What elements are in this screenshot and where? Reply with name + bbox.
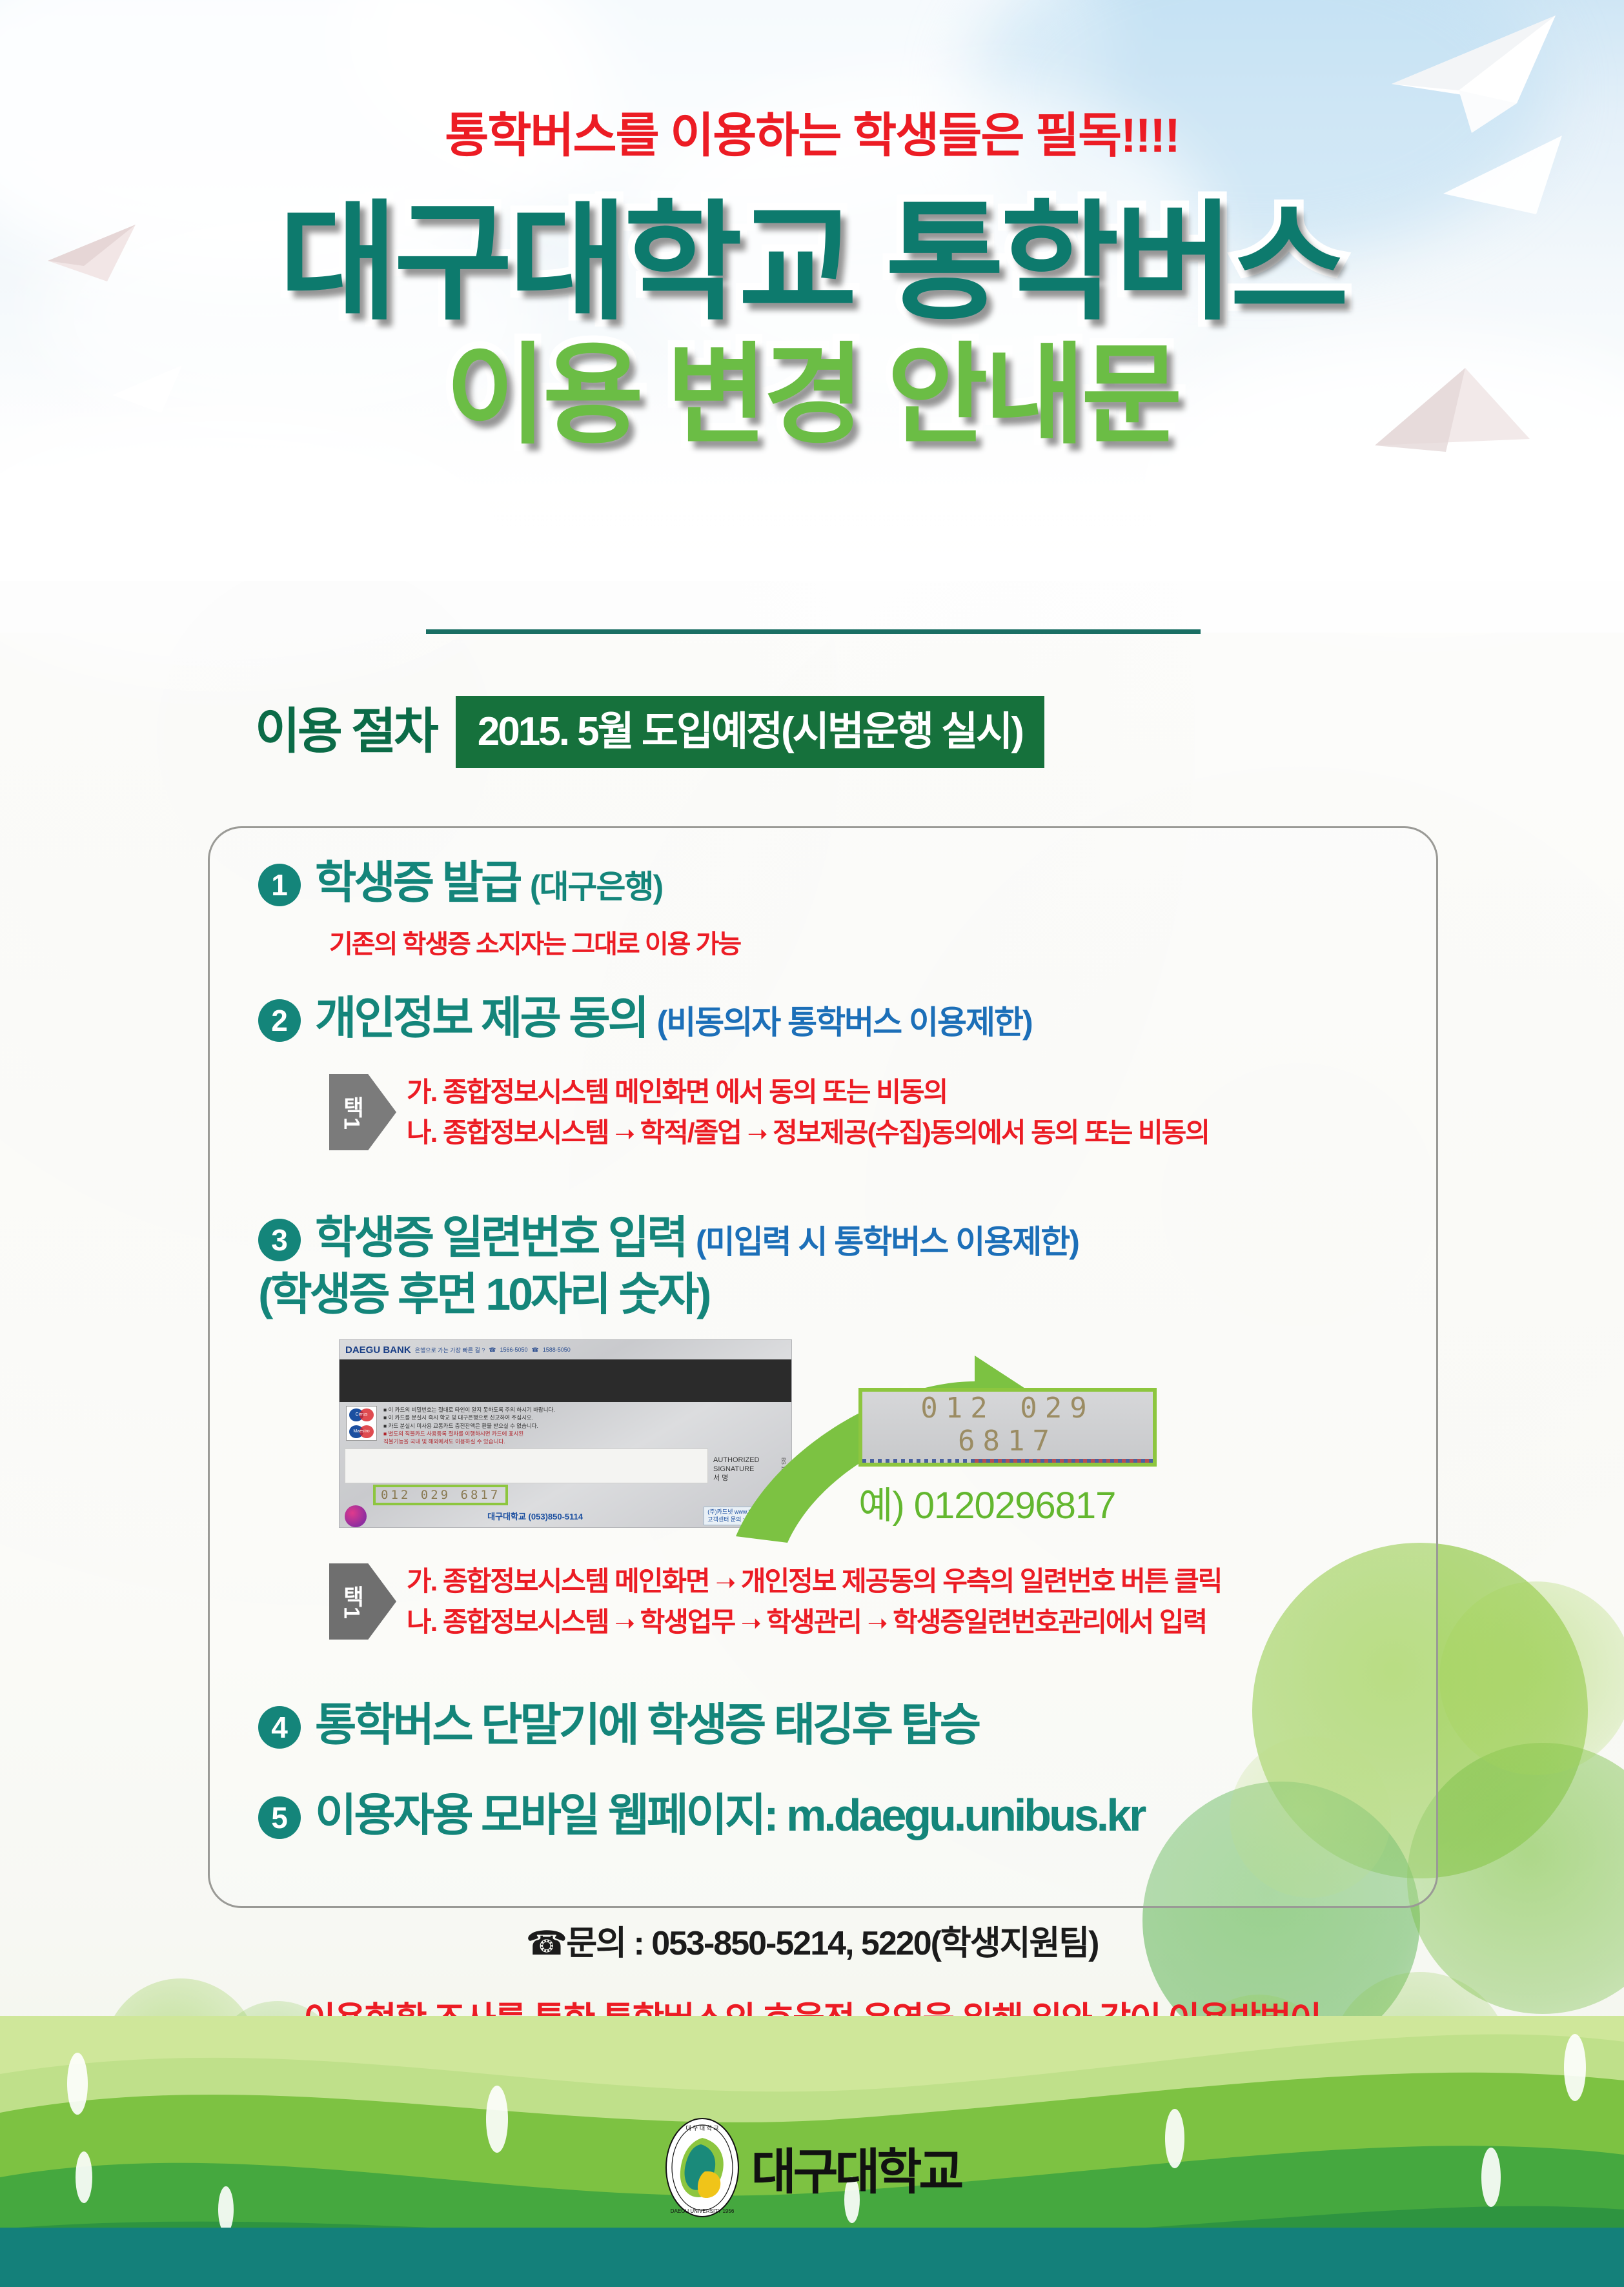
step-title-text: 학생증 발급 [315, 857, 520, 908]
serial-zoom-strip [862, 1459, 1153, 1463]
step-title-text: 이용자용 모바일 웹페이지: [315, 1790, 776, 1840]
title-line-2: 이용 변경 안내문 [0, 337, 1624, 456]
step-title: 학생증 일련번호 입력 (미입력 시 통학버스 이용제한) [315, 1214, 1079, 1263]
step-item-3: 3 학생증 일련번호 입력 (미입력 시 통학버스 이용제한) [258, 1214, 1079, 1263]
contact-text: 문의 : 053-850-5214, 5220(학생지원팀) [566, 1925, 1098, 1962]
divider-rule [426, 629, 1201, 634]
arrow-icon: ➝ [614, 1610, 634, 1637]
footer-bar [0, 2228, 1624, 2287]
step-item-5: 5 이용자용 모바일 웹페이지: m.daegu.unibus.kr [258, 1791, 1144, 1840]
step-item-2: 2 개인정보 제공 동의 (비동의자 통학버스 이용제한) [258, 994, 1032, 1043]
step-title: 학생증 발급 (대구은행) [315, 859, 662, 908]
title-line-1: 대구대학교 통학버스 [0, 194, 1624, 333]
maestro-icon: Maestro [349, 1425, 374, 1438]
substep-part: 학생업무 [640, 1607, 735, 1637]
step-title: 이용자용 모바일 웹페이지: m.daegu.unibus.kr [315, 1791, 1144, 1840]
step-item-1: 1 학생증 발급 (대구은행) [258, 859, 662, 908]
step-badge: 4 [258, 1706, 301, 1749]
step-badge: 2 [258, 999, 301, 1042]
pick-one-marker: 택1 [329, 1563, 396, 1640]
cirrus-maestro-logo: Cirrus Maestro [346, 1406, 377, 1441]
step-paren: (대구은행) [530, 869, 662, 905]
serial-zoom-text: 012 029 6817 [862, 1392, 1153, 1458]
card-serial-number: 012 029 6817 [373, 1485, 508, 1505]
pick-one-label: 택1 [333, 1074, 370, 1150]
step-badge: 1 [258, 864, 301, 906]
kicker-text: 통학버스를 이용하는 학생들은 필독!!!! [0, 97, 1624, 166]
poster-title: 대구대학교 통학버스 이용 변경 안내문 [0, 194, 1624, 456]
step-title-text: 학생증 일련번호 입력 [315, 1212, 686, 1263]
card-network-logos: Cirrus Maestro [345, 1406, 378, 1446]
step-item-4: 4 통학버스 단말기에 학생증 태깅후 탑승 [258, 1701, 979, 1750]
step-paren: (비동의자 통학버스 이용제한) [657, 1004, 1032, 1041]
substep-part: 정보제공(수집)동의에서 동의 또는 비동의 [773, 1117, 1209, 1148]
arrow-icon: ➝ [868, 1610, 887, 1637]
card-tagline: 은행으로 가는 가장 빠른 길 ? [415, 1346, 485, 1354]
svg-text:대 구 대 학 교: 대 구 대 학 교 [685, 2125, 718, 2131]
step-2-substeps: 택1 가. 종합정보시스템 메인화면 에서 동의 또는 비동의 나. 종합정보시… [329, 1072, 1209, 1153]
university-name: 대구대학교 [751, 2132, 961, 2203]
step-badge: 3 [258, 1219, 301, 1261]
step-title: 개인정보 제공 동의 (비동의자 통학버스 이용제한) [315, 994, 1032, 1043]
pick-one-marker: 택1 [329, 1074, 396, 1150]
section-label: 이용 절차 [255, 696, 456, 768]
step-title-text: 개인정보 제공 동의 [315, 993, 647, 1043]
phone-icon: ☎ [526, 1925, 567, 1962]
university-seal-icon: 대 구 대 학 교 DAEGU UNIVERSITY 1956 [664, 2116, 741, 2219]
serial-example-label: 예) 0120296817 [858, 1475, 1115, 1529]
substep-part: 학생증일련번호관리에서 입력 [893, 1607, 1206, 1637]
mobile-web-url[interactable]: m.daegu.unibus.kr [786, 1790, 1144, 1840]
substep-b: 나. 종합정보시스템 ➝ 학적/졸업 ➝ 정보제공(수집)동의에서 동의 또는 … [407, 1112, 1209, 1153]
pick-one-label: 택1 [333, 1563, 370, 1640]
substep-b: 나. 종합정보시스템 ➝ 학생업무 ➝ 학생관리 ➝ 학생증일련번호관리에서 입… [407, 1601, 1221, 1642]
substep-part: 학적/졸업 [640, 1117, 741, 1148]
arrow-icon: ➝ [614, 1121, 634, 1148]
card-branch-line: 대구대학교 (053)850-5114 [487, 1510, 583, 1522]
substep-part: 나. 종합정보시스템 [407, 1607, 608, 1637]
step-title: 통학버스 단말기에 학생증 태깅후 탑승 [315, 1701, 979, 1750]
step-badge: 5 [258, 1796, 301, 1839]
card-bank-name: DAEGU BANK [345, 1345, 411, 1356]
cirrus-label: Cirrus [349, 1412, 374, 1417]
footer-logo: 대 구 대 학 교 DAEGU UNIVERSITY 1956 대구대학교 [0, 2116, 1624, 2219]
substep-part: 나. 종합정보시스템 [407, 1117, 608, 1148]
svg-text:DAEGU UNIVERSITY 1956: DAEGU UNIVERSITY 1956 [670, 2208, 734, 2214]
step-3-substeps: 택1 가. 종합정보시스템 메인화면 ➝ 개인정보 제공동의 우측의 일련번호 … [329, 1561, 1221, 1642]
card-phone-1: 1566-5050 [500, 1347, 527, 1353]
signature-box [345, 1448, 708, 1483]
step-note-1: 기존의 학생증 소지자는 그대로 이용 가능 [329, 923, 740, 961]
cirrus-icon: Cirrus [349, 1408, 374, 1421]
step-3-subtitle: (학생증 후면 10자리 숫자) [258, 1270, 709, 1319]
section-heading: 이용 절차 2015. 5월 도입예정(시범운행 실시) [255, 696, 1044, 768]
substep-part: 학생관리 [766, 1607, 861, 1637]
contact-line: ☎문의 : 053-850-5214, 5220(학생지원팀) [0, 1916, 1624, 1964]
substep-part: 가. 종합정보시스템 메인화면 [407, 1566, 709, 1596]
step-paren: (미입력 시 통학버스 이용제한) [696, 1224, 1079, 1260]
substep-a: 가. 종합정보시스템 메인화면 에서 동의 또는 비동의 [407, 1072, 1209, 1112]
card-phone-2: 1588-5050 [543, 1347, 571, 1353]
arrow-icon: ➝ [741, 1610, 760, 1637]
card-phone-icon: ☎ [489, 1347, 496, 1354]
poster-root: 통학버스를 이용하는 학생들은 필독!!!! 대구대학교 통학버스 이용 변경 … [0, 0, 1624, 2287]
substep-part: 개인정보 제공동의 우측의 일련번호 버튼 클릭 [741, 1566, 1222, 1596]
arrow-icon: ➝ [715, 1569, 735, 1596]
section-banner: 2015. 5월 도입예정(시범운행 실시) [456, 696, 1044, 768]
substep-a: 가. 종합정보시스템 메인화면 ➝ 개인정보 제공동의 우측의 일련번호 버튼 … [407, 1561, 1221, 1601]
serial-zoom-callout: 012 029 6817 [858, 1388, 1157, 1467]
card-phone-icon: ☎ [532, 1347, 539, 1354]
arrow-icon: ➝ [747, 1121, 767, 1148]
maestro-label: Maestro [349, 1429, 374, 1434]
s-mark-icon [345, 1505, 367, 1527]
